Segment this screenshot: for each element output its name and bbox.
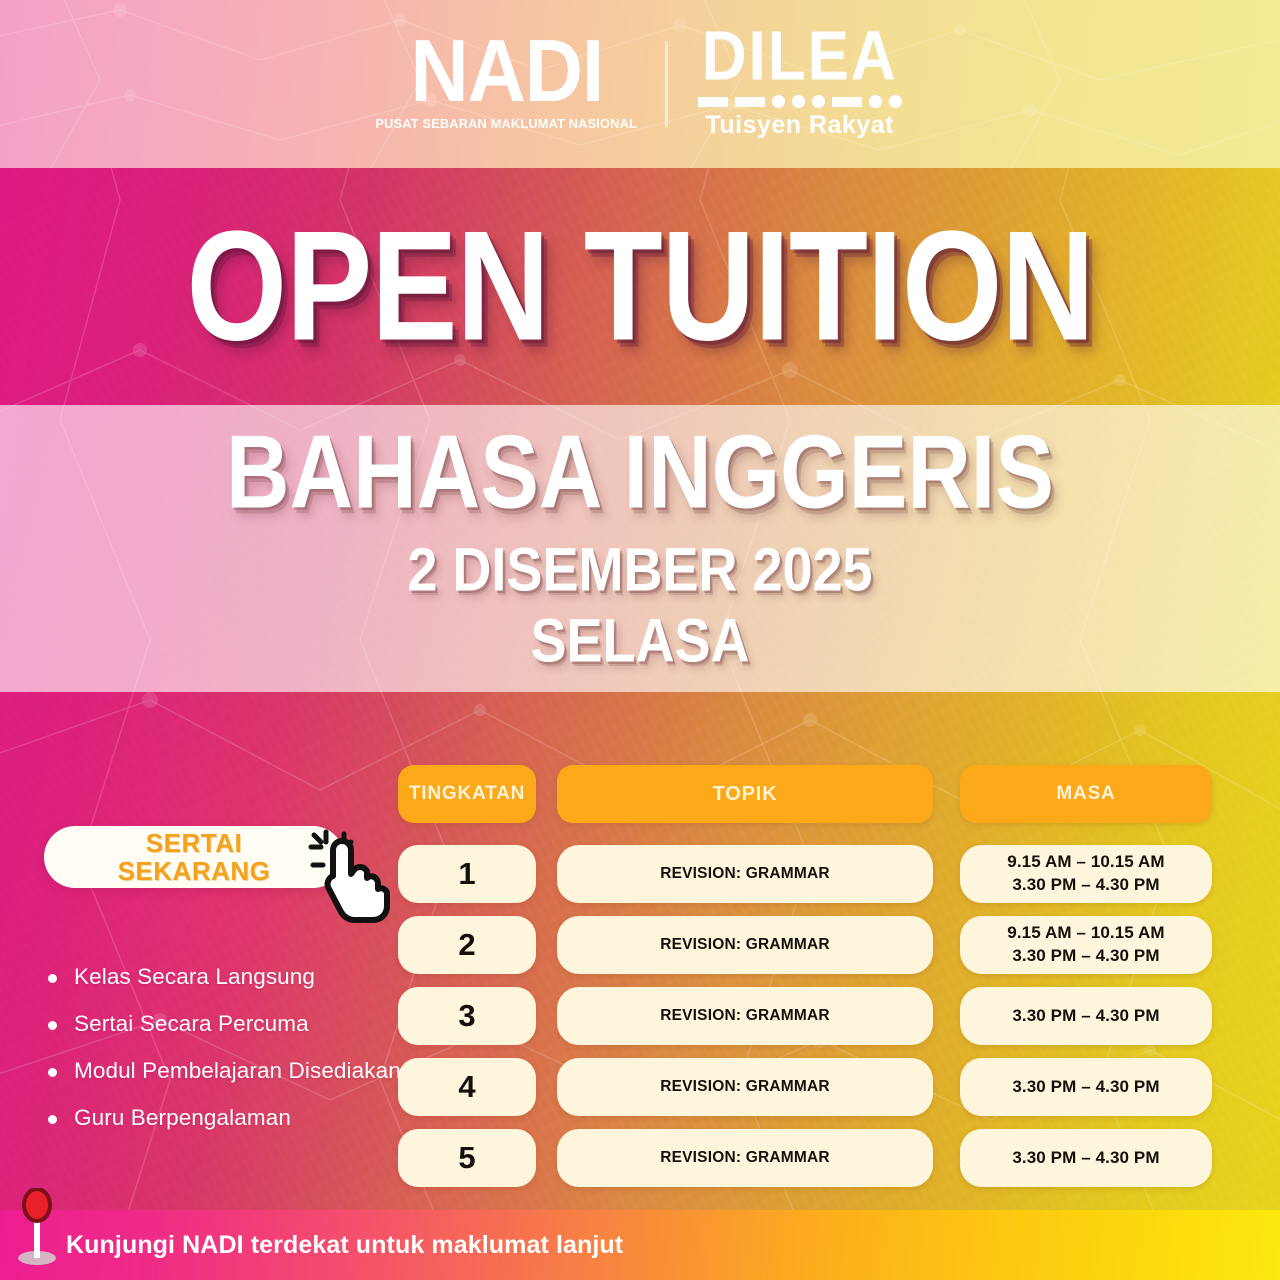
cell-topik: REVISION: GRAMMAR [557, 1129, 933, 1187]
cell-tingkatan: 4 [398, 1058, 536, 1116]
dilea-logo-icon: DILEA Tuisyen Rakyat [698, 28, 902, 141]
cell-masa-line1: 3.30 PM – 4.30 PM [1012, 1147, 1159, 1170]
logo-header-band: NADI PUSAT SEBARAN MAKLUMAT NASIONAL DIL… [0, 0, 1280, 168]
schedule-table: TINGKATAN TOPIK MASA 1 REVISION: GRAMMAR… [398, 765, 1216, 1200]
join-now-label-line2: SEKARANG [118, 857, 271, 885]
list-item: Guru Berpengalaman [44, 1105, 394, 1131]
subject-info-band: BAHASA INGGERIS 2 DISEMBER 2025 SELASA [0, 405, 1280, 692]
list-item: Kelas Secara Langsung [44, 964, 394, 990]
dilea-tagline: Tuisyen Rakyat [705, 111, 894, 140]
cell-topik: REVISION: GRAMMAR [557, 1058, 933, 1116]
page-title: OPEN TUITION [186, 208, 1093, 364]
table-row: 3 REVISION: GRAMMAR 3.30 PM – 4.30 PM [398, 987, 1216, 1045]
dilea-wordmark: DILEA [702, 24, 898, 90]
left-column: SERTAI SEKARANG Kelas Secara Langsung Se… [44, 826, 394, 1152]
nadi-wordmark: NADI [410, 31, 603, 112]
logo-divider [665, 41, 668, 127]
column-header-tingkatan: TINGKATAN [398, 765, 536, 823]
cell-masa: 9.15 AM – 10.15 AM 3.30 PM – 4.30 PM [960, 916, 1212, 974]
list-item: Sertai Secara Percuma [44, 1011, 394, 1037]
cell-tingkatan: 2 [398, 916, 536, 974]
cell-masa-line1: 3.30 PM – 4.30 PM [1012, 1005, 1159, 1028]
cell-topik: REVISION: GRAMMAR [557, 845, 933, 903]
cell-tingkatan: 1 [398, 845, 536, 903]
table-row: 5 REVISION: GRAMMAR 3.30 PM – 4.30 PM [398, 1129, 1216, 1187]
list-item: Modul Pembelajaran Disediakan [44, 1058, 394, 1084]
poster-root: NADI PUSAT SEBARAN MAKLUMAT NASIONAL DIL… [0, 0, 1280, 1280]
cell-masa-line2: 3.30 PM – 4.30 PM [1012, 945, 1159, 968]
join-now-label-line1: SERTAI [146, 829, 242, 857]
cell-masa: 3.30 PM – 4.30 PM [960, 1129, 1212, 1187]
table-row: 4 REVISION: GRAMMAR 3.30 PM – 4.30 PM [398, 1058, 1216, 1116]
cell-topik: REVISION: GRAMMAR [557, 987, 933, 1045]
cell-masa: 3.30 PM – 4.30 PM [960, 987, 1212, 1045]
cell-masa-line1: 9.15 AM – 10.15 AM [1007, 922, 1164, 945]
table-row: 2 REVISION: GRAMMAR 9.15 AM – 10.15 AM 3… [398, 916, 1216, 974]
nadi-tagline: PUSAT SEBARAN MAKLUMAT NASIONAL [376, 117, 638, 131]
footer-message: Kunjungi NADI terdekat untuk maklumat la… [66, 1231, 623, 1260]
click-hand-cursor-icon [299, 820, 403, 924]
dilea-morse-decoration [698, 95, 902, 108]
cell-masa: 3.30 PM – 4.30 PM [960, 1058, 1212, 1116]
benefits-list: Kelas Secara Langsung Sertai Secara Perc… [44, 964, 394, 1131]
cell-masa-line1: 3.30 PM – 4.30 PM [1012, 1076, 1159, 1099]
location-pin-icon [14, 1188, 60, 1266]
cell-tingkatan: 5 [398, 1129, 536, 1187]
hero-section: OPEN TUITION [0, 168, 1280, 405]
cell-topik: REVISION: GRAMMAR [557, 916, 933, 974]
subject-name: BAHASA INGGERIS [226, 420, 1054, 524]
cell-masa: 9.15 AM – 10.15 AM 3.30 PM – 4.30 PM [960, 845, 1212, 903]
event-date: 2 DISEMBER 2025 [407, 538, 872, 603]
footer-bar: Kunjungi NADI terdekat untuk maklumat la… [0, 1210, 1280, 1280]
table-header-row: TINGKATAN TOPIK MASA [398, 765, 1216, 823]
cell-tingkatan: 3 [398, 987, 536, 1045]
cell-masa-line1: 9.15 AM – 10.15 AM [1007, 851, 1164, 874]
event-day: SELASA [530, 609, 749, 674]
table-row: 1 REVISION: GRAMMAR 9.15 AM – 10.15 AM 3… [398, 845, 1216, 903]
column-header-topik: TOPIK [557, 765, 933, 823]
nadi-logo-icon: NADI PUSAT SEBARAN MAKLUMAT NASIONAL [378, 37, 634, 131]
column-header-masa: MASA [960, 765, 1212, 823]
cell-masa-line2: 3.30 PM – 4.30 PM [1012, 874, 1159, 897]
